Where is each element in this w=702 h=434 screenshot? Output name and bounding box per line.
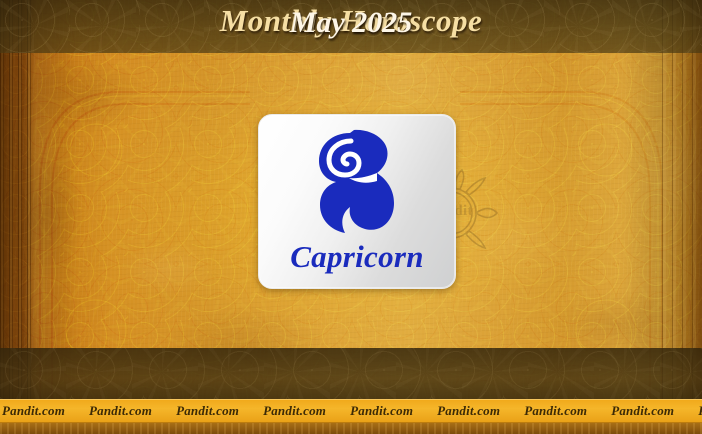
watermark-text: Pandit.com bbox=[611, 403, 674, 419]
watermark-strip: Pandit.comPandit.comPandit.comPandit.com… bbox=[0, 399, 702, 423]
watermark-track: Pandit.comPandit.comPandit.comPandit.com… bbox=[0, 403, 702, 419]
horoscope-banner: Monthly Horoscope p bbox=[0, 0, 702, 434]
watermark-text: Pandit.com bbox=[176, 403, 239, 419]
zodiac-sign-label: Capricorn bbox=[259, 239, 455, 275]
zodiac-card: Capricorn bbox=[258, 114, 456, 289]
footer-band-texture bbox=[0, 348, 702, 399]
watermark-text: Pandit.com bbox=[524, 403, 587, 419]
watermark-strip-underline-texture bbox=[0, 423, 702, 434]
watermark-strip-underline bbox=[0, 423, 702, 434]
watermark-text: Pandit.com bbox=[89, 403, 152, 419]
capricorn-zodiac-icon bbox=[293, 127, 411, 239]
month-year-label: May 2025 bbox=[0, 6, 702, 40]
watermark-text: Pandit.com bbox=[437, 403, 500, 419]
watermark-text: Pandit.com bbox=[2, 403, 65, 419]
footer-band bbox=[0, 348, 702, 399]
watermark-text: Pandit.com bbox=[698, 403, 702, 419]
watermark-text: Pandit.com bbox=[263, 403, 326, 419]
watermark-text: Pandit.com bbox=[350, 403, 413, 419]
